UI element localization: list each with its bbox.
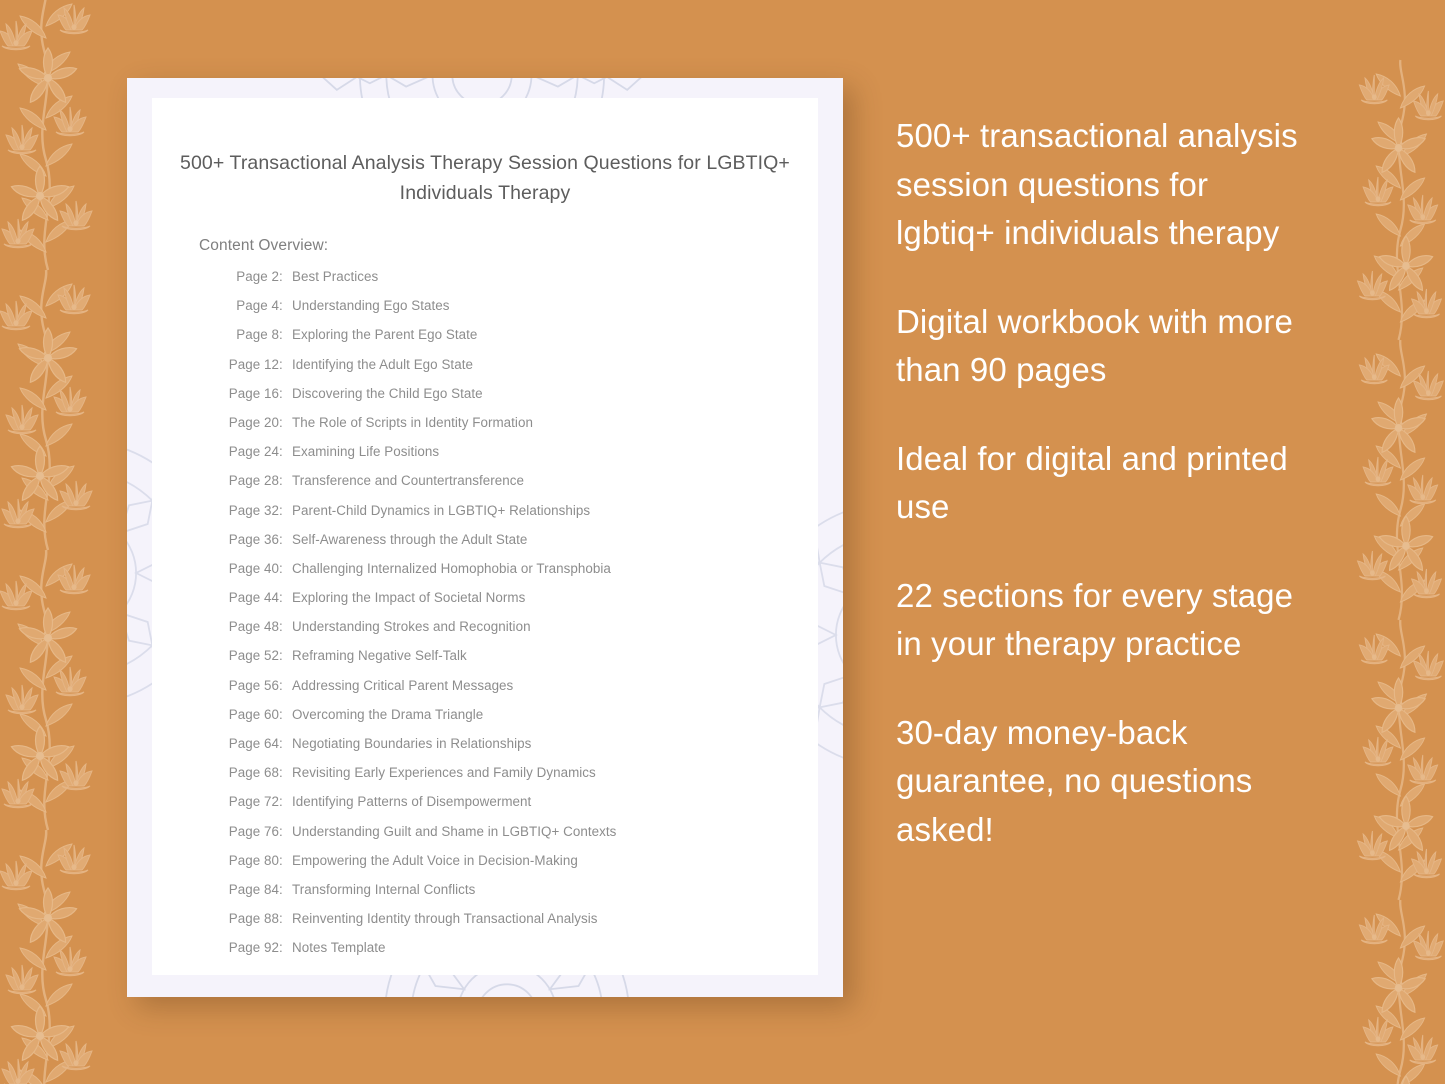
toc-entry-title: Parent-Child Dynamics in LGBTIQ+ Relatio…: [292, 503, 818, 518]
toc-colon: :: [279, 911, 292, 926]
toc-entry-title: Self-Awareness through the Adult State: [292, 532, 818, 547]
toc-colon: :: [279, 736, 292, 751]
toc-colon: :: [279, 794, 292, 809]
toc-entry-title: Overcoming the Drama Triangle: [292, 707, 818, 722]
toc-entry-title: Identifying Patterns of Disempowerment: [292, 794, 818, 809]
toc-entry-title: Revisiting Early Experiences and Family …: [292, 765, 818, 780]
toc-page-number: Page 8: [221, 327, 279, 342]
table-of-contents: Page 2:Best PracticesPage 4:Understandin…: [152, 269, 818, 970]
toc-page-number: Page 40: [221, 561, 279, 576]
toc-row: Page 84:Transforming Internal Conflicts: [152, 882, 818, 911]
toc-colon: :: [279, 473, 292, 488]
toc-page-number: Page 36: [221, 532, 279, 547]
toc-row: Page 8:Exploring the Parent Ego State: [152, 327, 818, 356]
toc-colon: :: [279, 532, 292, 547]
toc-row: Page 68:Revisiting Early Experiences and…: [152, 765, 818, 794]
toc-page-number: Page 48: [221, 619, 279, 634]
toc-colon: :: [279, 678, 292, 693]
page-title: 500+ Transactional Analysis Therapy Sess…: [180, 148, 790, 208]
toc-entry-title: Examining Life Positions: [292, 444, 818, 459]
toc-colon: :: [279, 940, 292, 955]
toc-entry-title: Discovering the Child Ego State: [292, 386, 818, 401]
marketing-blurb: Ideal for digital and printed use: [896, 435, 1316, 532]
toc-row: Page 40:Challenging Internalized Homopho…: [152, 561, 818, 590]
toc-colon: :: [279, 386, 292, 401]
toc-row: Page 4:Understanding Ego States: [152, 298, 818, 327]
toc-page-number: Page 12: [221, 357, 279, 372]
toc-row: Page 20:The Role of Scripts in Identity …: [152, 415, 818, 444]
toc-colon: :: [279, 824, 292, 839]
toc-page-number: Page 52: [221, 648, 279, 663]
toc-page-number: Page 2: [221, 269, 279, 284]
toc-entry-title: Identifying the Adult Ego State: [292, 357, 818, 372]
toc-row: Page 92:Notes Template: [152, 940, 818, 969]
floral-border-left: [0, 0, 114, 1084]
toc-page-number: Page 44: [221, 590, 279, 605]
toc-row: Page 28:Transference and Countertransfer…: [152, 473, 818, 502]
toc-entry-title: Exploring the Impact of Societal Norms: [292, 590, 818, 605]
toc-row: Page 72:Identifying Patterns of Disempow…: [152, 794, 818, 823]
toc-row: Page 32:Parent-Child Dynamics in LGBTIQ+…: [152, 503, 818, 532]
toc-row: Page 24:Examining Life Positions: [152, 444, 818, 473]
toc-colon: :: [279, 590, 292, 605]
toc-colon: :: [279, 298, 292, 313]
toc-page-number: Page 76: [221, 824, 279, 839]
toc-entry-title: Best Practices: [292, 269, 818, 284]
toc-entry-title: Understanding Strokes and Recognition: [292, 619, 818, 634]
content-overview-label: Content Overview:: [199, 237, 818, 255]
floral-border-right: [1337, 0, 1445, 1084]
marketing-blurb: 500+ transactional analysis session ques…: [896, 112, 1316, 258]
toc-row: Page 52:Reframing Negative Self-Talk: [152, 648, 818, 677]
toc-entry-title: Understanding Ego States: [292, 298, 818, 313]
toc-row: Page 44:Exploring the Impact of Societal…: [152, 590, 818, 619]
toc-page-number: Page 60: [221, 707, 279, 722]
toc-entry-title: Negotiating Boundaries in Relationships: [292, 736, 818, 751]
toc-page-number: Page 4: [221, 298, 279, 313]
toc-row: Page 88:Reinventing Identity through Tra…: [152, 911, 818, 940]
toc-colon: :: [279, 765, 292, 780]
toc-entry-title: Understanding Guilt and Shame in LGBTIQ+…: [292, 824, 818, 839]
toc-entry-title: The Role of Scripts in Identity Formatio…: [292, 415, 818, 430]
toc-page-number: Page 88: [221, 911, 279, 926]
toc-row: Page 76:Understanding Guilt and Shame in…: [152, 824, 818, 853]
document-page-sheet: 500+ Transactional Analysis Therapy Sess…: [152, 98, 818, 975]
toc-page-number: Page 84: [221, 882, 279, 897]
toc-entry-title: Exploring the Parent Ego State: [292, 327, 818, 342]
toc-page-number: Page 24: [221, 444, 279, 459]
marketing-blurb: 22 sections for every stage in your ther…: [896, 572, 1316, 669]
toc-page-number: Page 80: [221, 853, 279, 868]
toc-colon: :: [279, 619, 292, 634]
toc-colon: :: [279, 882, 292, 897]
toc-entry-title: Reframing Negative Self-Talk: [292, 648, 818, 663]
toc-page-number: Page 92: [221, 940, 279, 955]
toc-colon: :: [279, 853, 292, 868]
toc-page-number: Page 56: [221, 678, 279, 693]
toc-row: Page 64:Negotiating Boundaries in Relati…: [152, 736, 818, 765]
marketing-copy-column: 500+ transactional analysis session ques…: [896, 112, 1316, 854]
toc-page-number: Page 64: [221, 736, 279, 751]
toc-colon: :: [279, 327, 292, 342]
toc-page-number: Page 28: [221, 473, 279, 488]
toc-row: Page 60:Overcoming the Drama Triangle: [152, 707, 818, 736]
toc-row: Page 16:Discovering the Child Ego State: [152, 386, 818, 415]
document-preview-card: 500+ Transactional Analysis Therapy Sess…: [127, 78, 843, 997]
toc-entry-title: Notes Template: [292, 940, 818, 955]
toc-page-number: Page 32: [221, 503, 279, 518]
toc-colon: :: [279, 561, 292, 576]
toc-row: Page 80:Empowering the Adult Voice in De…: [152, 853, 818, 882]
toc-row: Page 36:Self-Awareness through the Adult…: [152, 532, 818, 561]
toc-row: Page 48:Understanding Strokes and Recogn…: [152, 619, 818, 648]
marketing-blurb: 30-day money-back guarantee, no question…: [896, 709, 1316, 855]
toc-colon: :: [279, 648, 292, 663]
toc-page-number: Page 72: [221, 794, 279, 809]
marketing-blurb: Digital workbook with more than 90 pages: [896, 298, 1316, 395]
toc-entry-title: Challenging Internalized Homophobia or T…: [292, 561, 818, 576]
toc-row: Page 56:Addressing Critical Parent Messa…: [152, 678, 818, 707]
toc-entry-title: Transforming Internal Conflicts: [292, 882, 818, 897]
toc-page-number: Page 68: [221, 765, 279, 780]
toc-entry-title: Reinventing Identity through Transaction…: [292, 911, 818, 926]
toc-colon: :: [279, 269, 292, 284]
toc-colon: :: [279, 357, 292, 372]
toc-entry-title: Empowering the Adult Voice in Decision-M…: [292, 853, 818, 868]
toc-colon: :: [279, 415, 292, 430]
toc-page-number: Page 20: [221, 415, 279, 430]
toc-colon: :: [279, 503, 292, 518]
toc-entry-title: Transference and Countertransference: [292, 473, 818, 488]
toc-row: Page 12:Identifying the Adult Ego State: [152, 357, 818, 386]
toc-row: Page 2:Best Practices: [152, 269, 818, 298]
toc-colon: :: [279, 707, 292, 722]
toc-entry-title: Addressing Critical Parent Messages: [292, 678, 818, 693]
toc-page-number: Page 16: [221, 386, 279, 401]
toc-colon: :: [279, 444, 292, 459]
